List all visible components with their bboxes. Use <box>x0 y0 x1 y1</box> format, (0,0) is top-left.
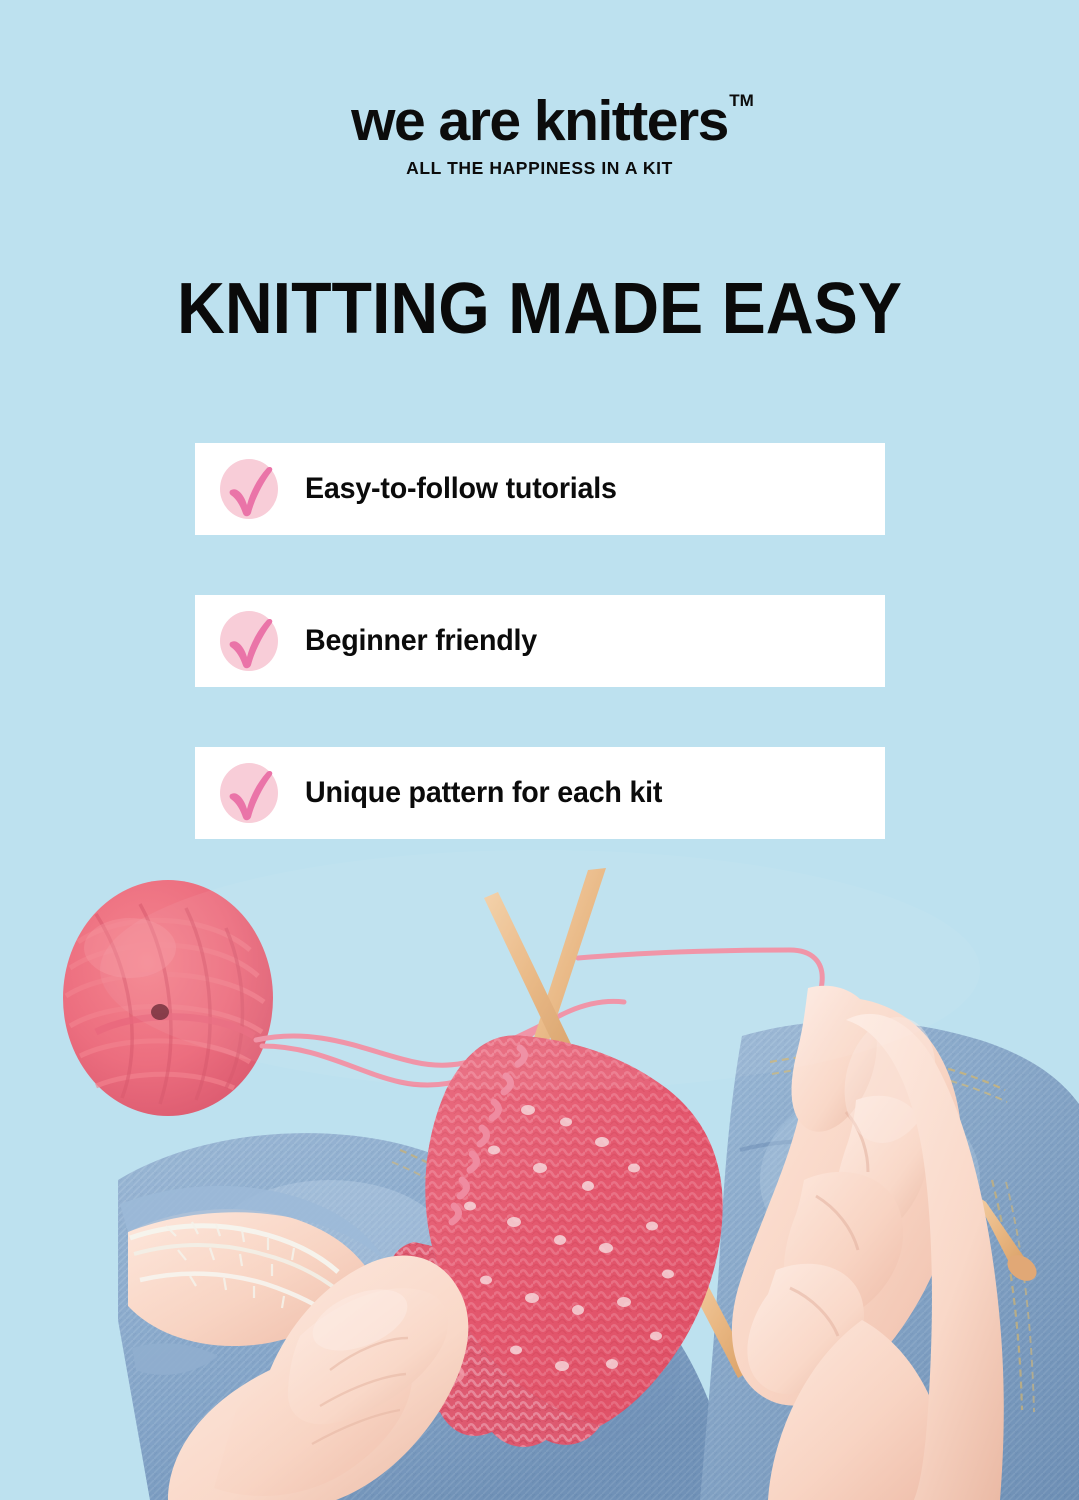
brand-logo: we are knittersTM <box>351 92 728 152</box>
feature-card: Beginner friendly <box>195 595 885 687</box>
knitting-photo-illustration <box>0 850 1079 1500</box>
feature-label: Easy-to-follow tutorials <box>305 472 617 506</box>
brand-logo-text: we are knitters <box>351 89 728 153</box>
pink-checkmark-icon <box>219 609 281 673</box>
pink-checkmark-icon <box>219 457 281 521</box>
feature-label: Unique pattern for each kit <box>305 776 662 810</box>
feature-card: Unique pattern for each kit <box>195 747 885 839</box>
brand-tagline: ALL THE HAPPINESS IN A KIT <box>0 158 1079 179</box>
feature-card: Easy-to-follow tutorials <box>195 443 885 535</box>
knitting-photo <box>0 850 1079 1500</box>
brand-block: we are knittersTM ALL THE HAPPINESS IN A… <box>0 92 1079 179</box>
poster: we are knittersTM ALL THE HAPPINESS IN A… <box>0 0 1079 1500</box>
check-glyph <box>219 609 281 673</box>
pink-checkmark-icon <box>219 761 281 825</box>
feature-list: Easy-to-follow tutorials Beginner friend… <box>195 443 885 839</box>
check-glyph <box>219 761 281 825</box>
feature-label: Beginner friendly <box>305 624 537 658</box>
page-title: KNITTING MADE EASY <box>43 268 1036 350</box>
trademark-icon: TM <box>729 92 754 110</box>
check-glyph <box>219 457 281 521</box>
